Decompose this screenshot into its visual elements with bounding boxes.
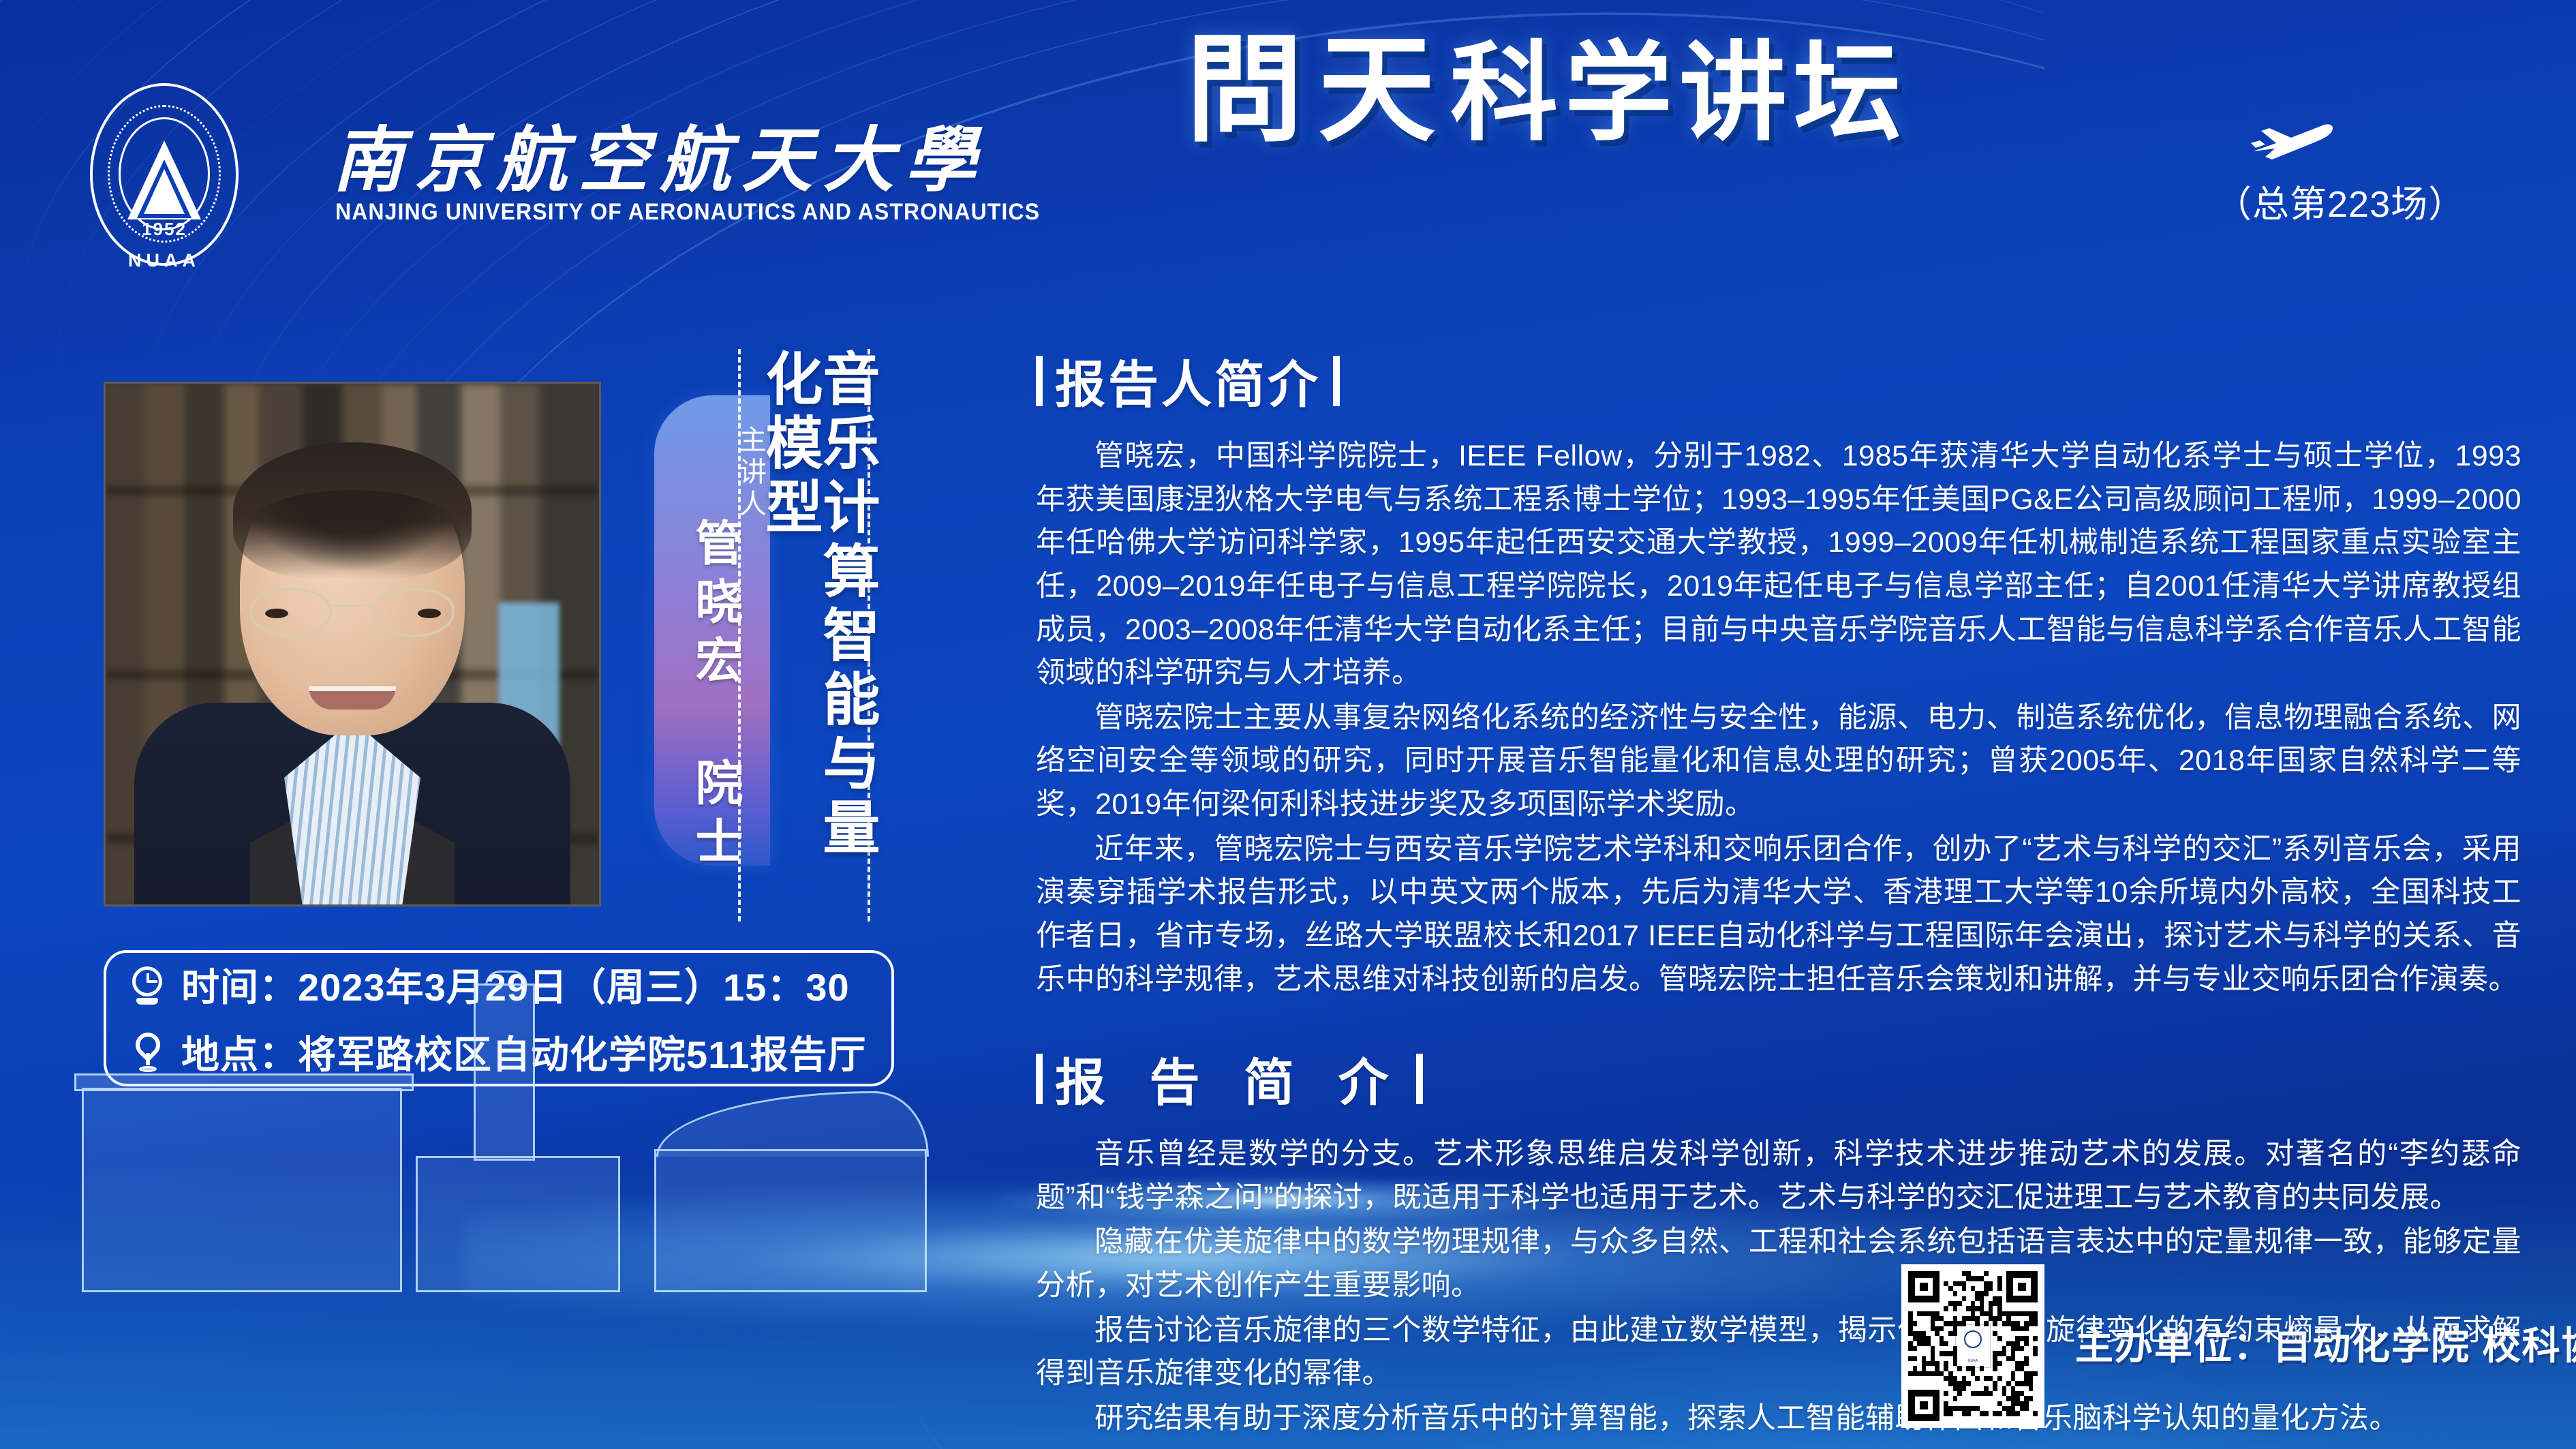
university-name-cn: 南京航空航天大學	[333, 102, 987, 205]
abstract-paragraph: 隐藏在优美旋律中的数学物理规律，与众多自然、工程和社会系统包括语言表达中的定量规…	[1036, 1221, 2521, 1307]
qr-center-logo: NUAA	[1955, 1324, 1991, 1368]
heading-bar-left	[1036, 1054, 1043, 1104]
forum-title-part1: 問天	[1186, 27, 1450, 156]
bio-section-heading: 报告人简介	[1036, 344, 2521, 417]
building-right	[654, 1149, 927, 1292]
poster-canvas: 1952 NUAA 南京航空航天大學 NANJING UNIVERSITY OF…	[0, 0, 2576, 1449]
forum-title-part2: 科学讲坛	[1450, 35, 1908, 154]
qr-code[interactable]: NUAA	[1901, 1264, 2044, 1428]
portrait-mouth	[309, 686, 396, 710]
crest-peak-inner	[144, 169, 185, 214]
crest-abbr: NUAA	[128, 250, 200, 271]
campus-buildings-illustration	[82, 992, 981, 1292]
heading-bar-right	[1416, 1054, 1423, 1104]
building-left	[82, 1088, 402, 1292]
airplane-icon	[2249, 116, 2337, 161]
bio-paragraph: 近年来，管晓宏院士与西安音乐学院艺术学科和交响乐团合作，创办了“艺术与科学的交汇…	[1036, 828, 2521, 1002]
university-name-en: NANJING UNIVERSITY OF AERONAUTICS AND AS…	[335, 199, 1040, 226]
abstract-paragraph: 音乐曾经是数学的分支。艺术形象思维启发科学创新，科学技术进步推动艺术的发展。对著…	[1036, 1133, 2521, 1219]
bio-heading-text: 报告人简介	[1055, 344, 1321, 417]
poster-header: 1952 NUAA 南京航空航天大學 NANJING UNIVERSITY OF…	[0, 0, 2576, 273]
portrait-glasses	[250, 588, 455, 640]
abstract-paragraph: 研究结果有助于深度分析音乐中的计算智能，探索人工智能辅助作曲和音乐脑科学认知的量…	[1036, 1397, 2521, 1441]
abstract-paragraphs: 音乐曾经是数学的分支。艺术形象思维启发科学创新，科学技术进步推动艺术的发展。对著…	[1036, 1133, 2521, 1440]
bio-paragraph: 管晓宏，中国科学院院士，IEEE Fellow，分别于1982、1985年获清华…	[1036, 435, 2521, 695]
lecture-title: 音乐计算智能与量化模型	[733, 349, 876, 921]
bio-paragraphs: 管晓宏，中国科学院院士，IEEE Fellow，分别于1982、1985年获清华…	[1036, 435, 2521, 1001]
lecture-title-block: 音乐计算智能与量化模型	[733, 349, 876, 921]
session-number: （总第223场）	[2215, 174, 2466, 228]
bio-paragraph: 管晓宏院士主要从事复杂网络化系统的经济性与安全性，能源、电力、制造系统优化，信息…	[1036, 697, 2521, 827]
organizer-label: 主办单位：自动化学院 校科协	[2075, 1315, 2576, 1371]
speaker-portrait	[104, 382, 601, 906]
content-column: 报告人简介 管晓宏，中国科学院院士，IEEE Fellow，分别于1982、19…	[1036, 344, 2521, 1441]
abstract-section-heading: 报 告 简 介	[1036, 1042, 2521, 1115]
abstract-heading-text: 报 告 简 介	[1055, 1042, 1404, 1115]
portrait-hair	[233, 442, 472, 579]
crest-year: 1952	[142, 219, 187, 240]
heading-bar-right	[1333, 356, 1340, 406]
building-center	[416, 1156, 620, 1292]
heading-bar-left	[1036, 356, 1043, 406]
nuaa-crest-logo: 1952 NUAA	[90, 83, 239, 266]
forum-title: 問天科学讲坛	[1186, 33, 1908, 150]
